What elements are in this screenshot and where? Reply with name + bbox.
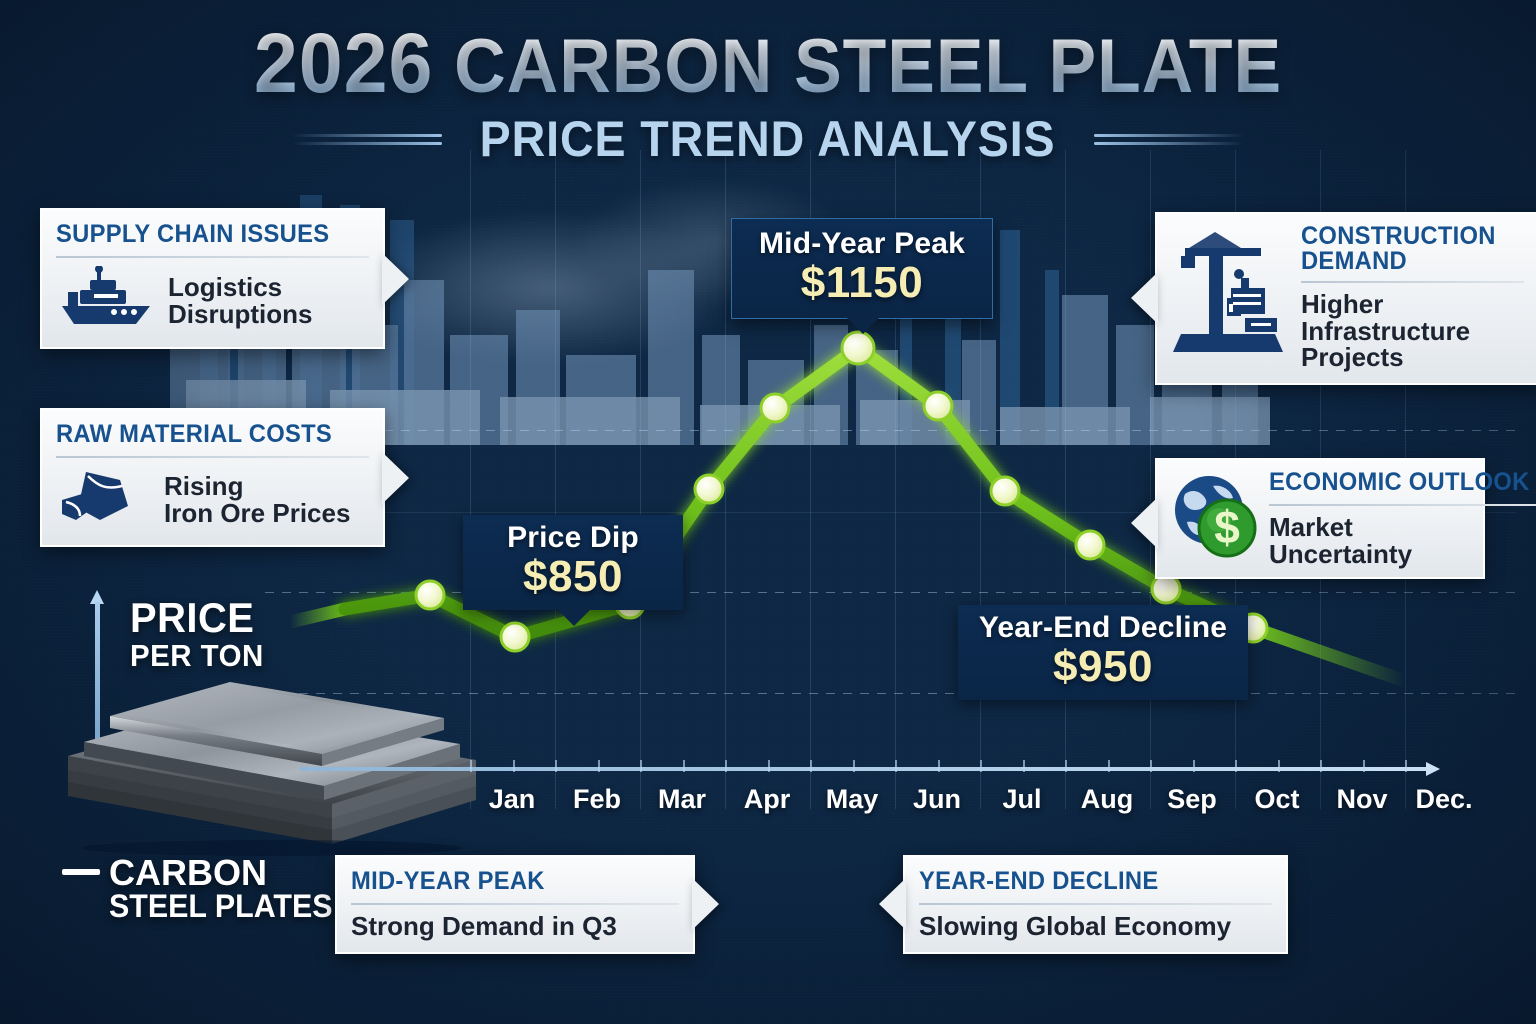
legend-label-line1: CARBON — [109, 852, 267, 893]
factor-card-text: MarketUncertainty — [1269, 514, 1536, 567]
svg-text:$: $ — [1214, 501, 1240, 553]
x-axis-month-label: Nov — [1336, 784, 1387, 815]
legend-label-line2: STEEL PLATES — [109, 890, 333, 924]
callout-arrow — [692, 878, 719, 930]
iron-ore-rocks-icon — [56, 466, 152, 533]
footnote-heading: MID-YEAR PEAK — [351, 867, 663, 896]
title-subtitle: PRICE TREND ANALYSIS — [480, 110, 1056, 168]
factor-card-construction-demand[interactable]: CONSTRUCTION DEMAND HigherInfrastructure… — [1155, 212, 1536, 385]
page-title: 2026 CARBON STEEL PLATE PRICE TREND ANAL… — [0, 22, 1536, 168]
factor-card-text: LogisticsDisruptions — [168, 274, 312, 327]
x-axis-month-label: May — [826, 784, 879, 815]
x-axis-month-label: Oct — [1254, 784, 1299, 815]
y-axis-label: PRICE PER TON — [130, 598, 271, 674]
title-rule-left — [292, 129, 442, 150]
factor-card-text: HigherInfrastructureProjects — [1301, 291, 1524, 371]
x-axis-month-label: Jun — [913, 784, 961, 815]
infographic-canvas: 2026 CARBON STEEL PLATE PRICE TREND ANAL… — [0, 0, 1536, 1024]
divider — [351, 903, 679, 905]
annotation-value: $850 — [479, 555, 667, 600]
title-main-text: CARBON STEEL PLATE — [454, 24, 1282, 109]
x-axis-month-label: Feb — [573, 784, 621, 815]
x-axis-month-labels: JanFebMarAprMayJunJulAugSepOctNovDec. — [0, 784, 1536, 824]
annotation-year-end-decline[interactable]: Year-End Decline $950 — [958, 605, 1248, 700]
callout-arrow — [382, 452, 409, 504]
chart-legend: CARBON STEEL PLATES — [62, 855, 344, 924]
callout-arrow — [879, 878, 906, 930]
title-year: 2026 — [254, 16, 433, 110]
y-axis-label-line2: PER TON — [130, 638, 264, 674]
x-axis-month-label: Apr — [744, 784, 791, 815]
divider — [56, 456, 369, 458]
x-axis-month-label: Mar — [658, 784, 706, 815]
footnote-heading: YEAR-END DECLINE — [919, 867, 1254, 896]
x-axis-month-label: Jan — [489, 784, 536, 815]
divider — [919, 903, 1272, 905]
factor-card-supply-chain-issues[interactable]: SUPPLY CHAIN ISSUES — [40, 208, 385, 349]
callout-arrow — [1131, 497, 1158, 549]
factor-card-heading: RAW MATERIAL COSTS — [56, 420, 353, 449]
y-axis-label-line1: PRICE — [130, 598, 264, 638]
annotation-label: Year-End Decline — [974, 611, 1232, 645]
title-main-row: 2026 CARBON STEEL PLATE — [46, 22, 1490, 104]
footnote-card-mid-year-peak[interactable]: MID-YEAR PEAK Strong Demand in Q3 — [335, 855, 695, 954]
x-axis-month-label: Sep — [1167, 784, 1217, 815]
annotation-label: Price Dip — [479, 521, 667, 555]
factor-card-heading: CONSTRUCTION DEMAND — [1301, 224, 1513, 274]
divider — [1269, 504, 1536, 506]
annotation-price-dip[interactable]: Price Dip $850 — [463, 515, 683, 610]
factor-card-economic-outlook[interactable]: $ ECONOMIC OUTLOOK MarketUncertainty — [1155, 458, 1485, 579]
title-rule-right — [1094, 129, 1244, 150]
factor-card-text: RisingIron Ore Prices — [164, 473, 350, 526]
factor-card-raw-material-costs[interactable]: RAW MATERIAL COSTS RisingIron Ore Prices — [40, 408, 385, 547]
globe-dollar-icon: $ — [1169, 470, 1261, 565]
title-subtitle-row: PRICE TREND ANALYSIS — [0, 110, 1536, 168]
annotation-mid-year-peak[interactable]: Mid-Year Peak $1150 — [731, 218, 993, 319]
line-dash-icon — [62, 869, 100, 875]
factor-card-heading: SUPPLY CHAIN ISSUES — [56, 220, 353, 249]
footnote-text: Slowing Global Economy — [919, 913, 1272, 940]
callout-arrow — [1131, 272, 1158, 324]
factor-card-heading: ECONOMIC OUTLOOK — [1269, 468, 1530, 497]
annotation-value: $950 — [974, 645, 1232, 690]
x-axis-month-label: Dec. — [1415, 784, 1472, 815]
cargo-ship-icon — [56, 266, 156, 335]
x-axis-month-label: Jul — [1002, 784, 1041, 815]
callout-arrow — [382, 253, 409, 305]
annotation-value: $1150 — [754, 261, 970, 306]
divider — [1301, 281, 1524, 283]
x-axis-month-label: Aug — [1081, 784, 1133, 815]
footnote-card-year-end-decline[interactable]: YEAR-END DECLINE Slowing Global Economy — [903, 855, 1288, 954]
annotation-pointer — [846, 317, 880, 334]
divider — [56, 256, 369, 258]
construction-crane-icon — [1171, 230, 1291, 365]
footnote-text: Strong Demand in Q3 — [351, 913, 679, 940]
annotation-label: Mid-Year Peak — [754, 227, 970, 261]
annotation-pointer — [557, 609, 591, 626]
legend-label: CARBON STEEL PLATES — [109, 855, 344, 924]
